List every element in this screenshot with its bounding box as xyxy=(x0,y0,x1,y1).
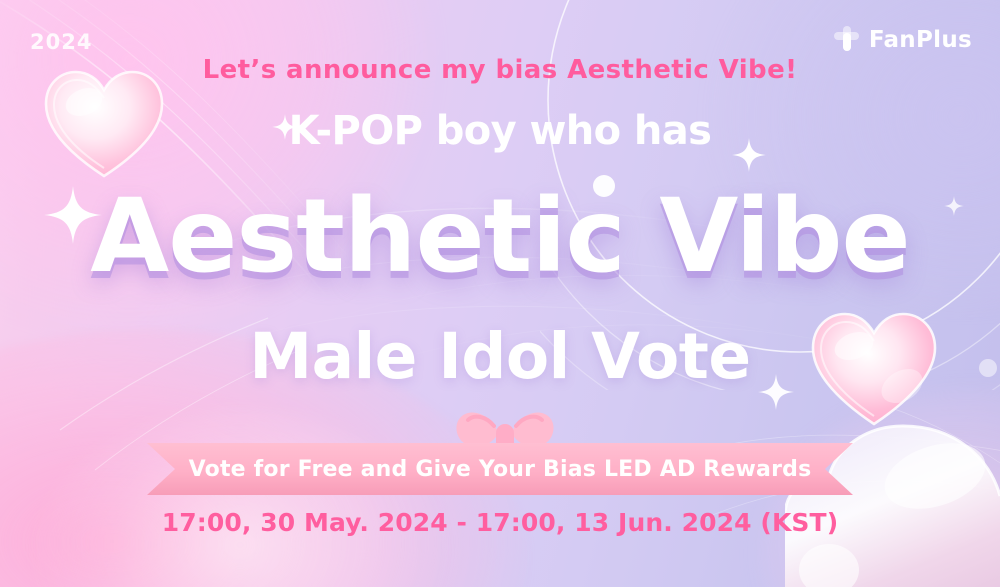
poster-canvas: 2024 FanPlus xyxy=(0,0,1000,587)
fanplus-plus-icon xyxy=(834,26,860,53)
vote-period-text: 17:00, 30 May. 2024 - 17:00, 13 Jun. 202… xyxy=(0,508,1000,537)
glow-bottom-left-highlight xyxy=(30,410,450,587)
kicker-text: Let’s announce my bias Aesthetic Vibe! xyxy=(0,55,1000,85)
ribbon-banner: Vote for Free and Give Your Bias LED AD … xyxy=(147,443,853,495)
subline-text: K-POP boy who has xyxy=(0,108,1000,154)
fanplus-brand: FanPlus xyxy=(834,26,972,53)
page-subtitle: Male Idol Vote xyxy=(0,320,1000,393)
ribbon-text: Vote for Free and Give Your Bias LED AD … xyxy=(147,443,853,495)
year-label: 2024 xyxy=(30,30,92,54)
page-title: Aesthetic Vibe xyxy=(0,186,1000,288)
brand-name: FanPlus xyxy=(869,27,972,53)
